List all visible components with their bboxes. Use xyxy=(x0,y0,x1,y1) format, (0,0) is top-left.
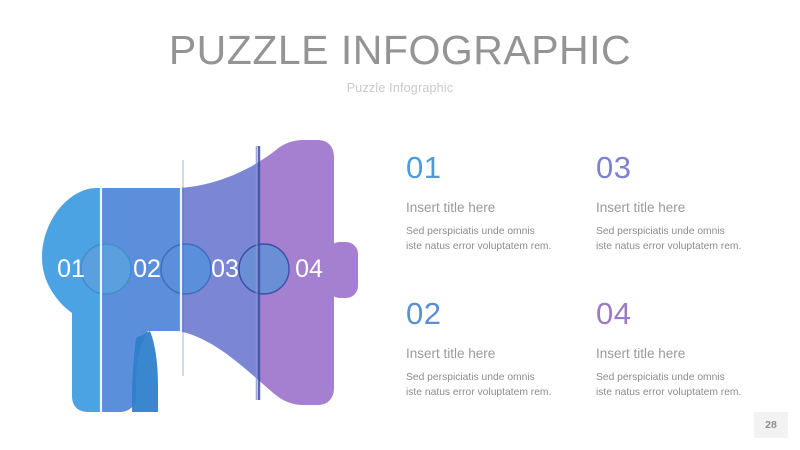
content-item-03[interactable]: 03 Insert title here Sed perspiciatis un… xyxy=(596,150,786,296)
slide-header: PUZZLE INFOGRAPHIC Puzzle Infographic xyxy=(0,26,800,95)
page-subtitle: Puzzle Infographic xyxy=(0,81,800,95)
page-title: PUZZLE INFOGRAPHIC xyxy=(0,26,800,74)
page-number: 28 xyxy=(765,419,777,431)
page-number-badge: 28 xyxy=(754,412,788,438)
item-title: Insert title here xyxy=(596,199,776,216)
item-description-line2: iste natus error voluptatem rem. xyxy=(406,387,551,398)
puzzle-piece-label-01: 01 xyxy=(57,255,85,283)
content-item-04[interactable]: 04 Insert title here Sed perspiciatis un… xyxy=(596,296,786,412)
content-item-01[interactable]: 01 Insert title here Sed perspiciatis un… xyxy=(406,150,596,296)
content-grid: 01 Insert title here Sed perspiciatis un… xyxy=(406,150,776,412)
item-number: 02 xyxy=(406,296,586,332)
megaphone-puzzle-diagram: 01 02 03 04 xyxy=(28,138,368,413)
item-description-line1: Sed perspiciatis unde omnis xyxy=(406,226,535,237)
item-description: Sed perspiciatis unde omnis iste natus e… xyxy=(596,225,776,254)
puzzle-piece-label-02: 02 xyxy=(133,255,161,283)
item-description: Sed perspiciatis unde omnis iste natus e… xyxy=(596,371,776,400)
item-description-line1: Sed perspiciatis unde omnis xyxy=(406,372,535,383)
item-description: Sed perspiciatis unde omnis iste natus e… xyxy=(406,225,586,254)
item-description-line2: iste natus error voluptatem rem. xyxy=(596,387,741,398)
item-number: 01 xyxy=(406,150,586,186)
item-title: Insert title here xyxy=(406,345,586,362)
item-description-line2: iste natus error voluptatem rem. xyxy=(406,241,551,252)
item-description-line2: iste natus error voluptatem rem. xyxy=(596,241,741,252)
item-number: 03 xyxy=(596,150,776,186)
item-description-line1: Sed perspiciatis unde omnis xyxy=(596,226,725,237)
item-number: 04 xyxy=(596,296,776,332)
item-description-line1: Sed perspiciatis unde omnis xyxy=(596,372,725,383)
puzzle-piece-label-03: 03 xyxy=(211,255,239,283)
puzzle-piece-label-04: 04 xyxy=(295,255,323,283)
item-description: Sed perspiciatis unde omnis iste natus e… xyxy=(406,371,586,400)
item-title: Insert title here xyxy=(406,199,586,216)
slide-canvas: PUZZLE INFOGRAPHIC Puzzle Infographic xyxy=(0,0,800,450)
item-title: Insert title here xyxy=(596,345,776,362)
content-item-02[interactable]: 02 Insert title here Sed perspiciatis un… xyxy=(406,296,596,412)
